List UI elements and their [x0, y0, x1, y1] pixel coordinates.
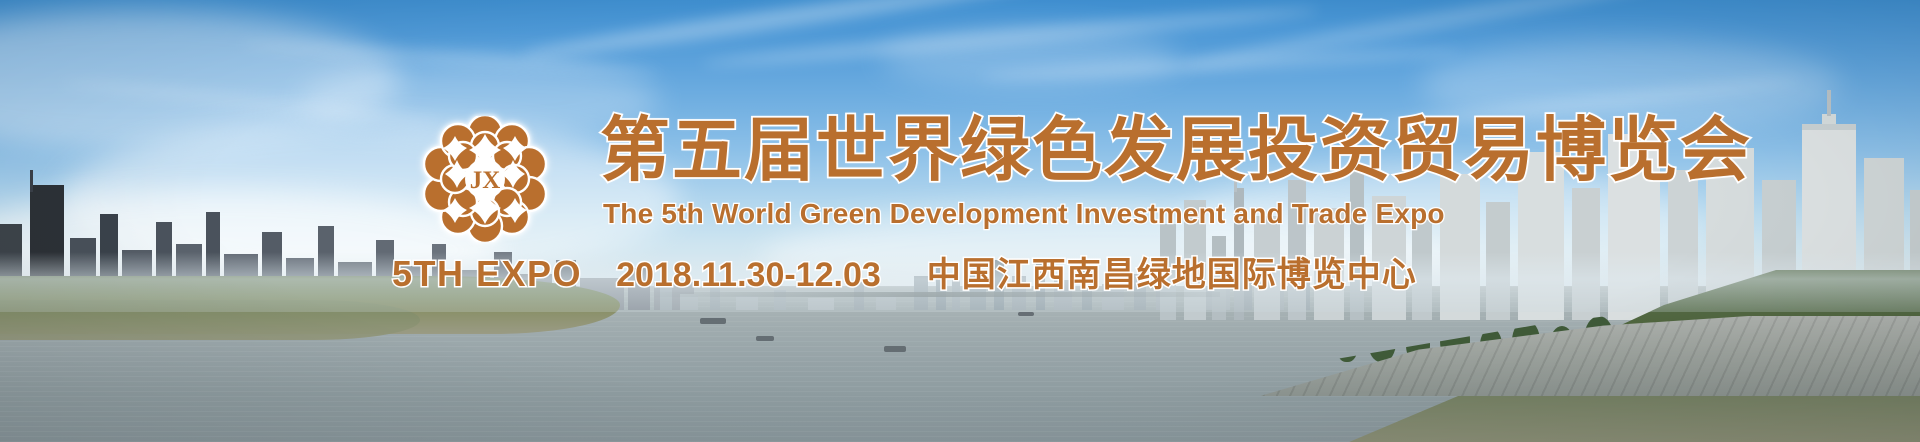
boat — [700, 318, 726, 324]
expo-title-chinese: 第五届世界绿色发展投资贸易博览会 — [600, 112, 1752, 188]
boat — [756, 336, 774, 341]
expo-date: 2018.11.30-12.03 — [616, 254, 881, 296]
expo-meta-row: 5TH EXPO 2018.11.30-12.03 中国江西南昌绿地国际博览中心 — [392, 253, 1417, 296]
expo-edition-label: 5TH EXPO — [392, 253, 582, 295]
expo-title-english: The 5th World Green Development Investme… — [603, 198, 1445, 230]
expo-banner: JX 第五届世界绿色发展投资贸易博览会 The 5th World Green … — [0, 0, 1920, 442]
boat — [1018, 312, 1034, 316]
left-sandbar — [0, 300, 420, 340]
jx-expo-emblem-logo: JX — [423, 116, 547, 242]
expo-venue: 中国江西南昌绿地国际博览中心 — [927, 254, 1417, 296]
boat — [884, 346, 906, 352]
logo-monogram: JX — [470, 167, 501, 194]
